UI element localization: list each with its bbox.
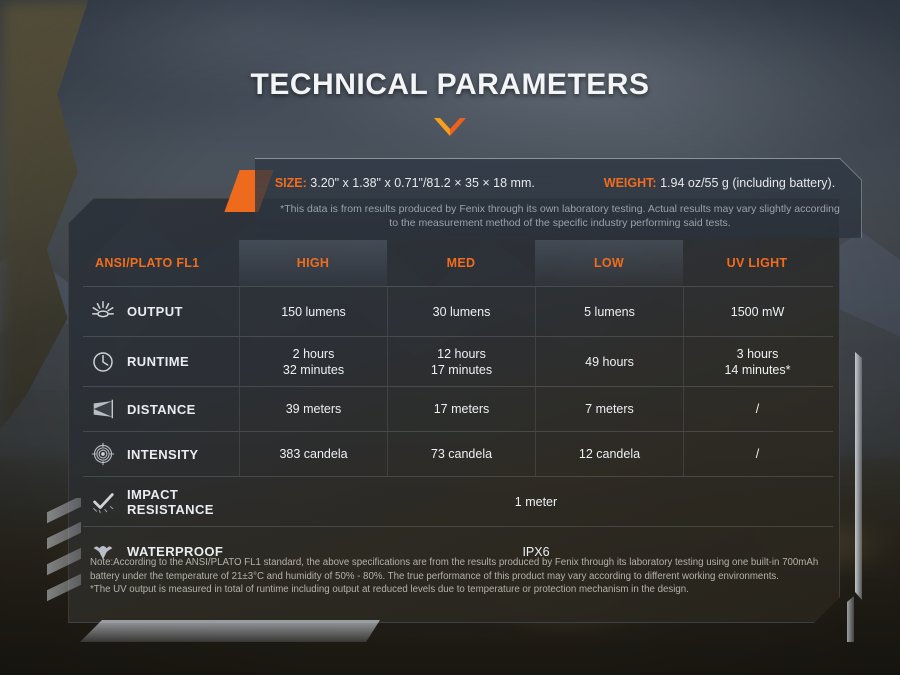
cell-intensity-low: 12 candela — [535, 432, 683, 476]
cell-output-med: 30 lumens — [387, 287, 535, 336]
size-label: SIZE: — [275, 176, 307, 190]
cell-intensity-med: 73 candela — [387, 432, 535, 476]
table-row: OUTPUT 150 lumens 30 lumens 5 lumens 150… — [83, 286, 833, 336]
right-edge-accent — [855, 352, 862, 600]
cell-distance-high: 39 meters — [239, 387, 387, 431]
cell-runtime-uv: 3 hours14 minutes* — [683, 337, 831, 386]
weight-label: WEIGHT: — [604, 176, 657, 190]
bottom-left-accent-bar — [80, 620, 380, 642]
header-cell-med: MED — [387, 240, 535, 286]
right-edge-accent-lower — [847, 596, 854, 642]
cell-runtime-med: 12 hours17 minutes — [387, 337, 535, 386]
footnote-block: Note:According to the ANSI/PLATO FL1 sta… — [90, 556, 820, 597]
table-row: RUNTIME 2 hours32 minutes 12 hours17 min… — [83, 336, 833, 386]
table-row: IMPACT RESISTANCE 1 meter — [83, 476, 833, 526]
table-row: INTENSITY 383 candela 73 candela 12 cand… — [83, 431, 833, 476]
header-cell-standard: ANSI/PLATO FL1 — [83, 240, 239, 286]
row-label-intensity: INTENSITY — [83, 432, 239, 476]
size-weight-line: SIZE: 3.20" x 1.38" x 0.71"/81.2 × 35 × … — [255, 176, 855, 190]
row-label-text: INTENSITY — [127, 447, 199, 462]
cell-runtime-high: 2 hours32 minutes — [239, 337, 387, 386]
cell-distance-uv: / — [683, 387, 831, 431]
spec-table: ANSI/PLATO FL1 HIGH MED LOW UV LIGHT — [83, 240, 833, 576]
row-label-text: RUNTIME — [127, 354, 189, 369]
page-title: TECHNICAL PARAMETERS — [0, 68, 900, 102]
left-stripe-decoration — [47, 498, 81, 610]
spec-disclaimer: *This data is from results produced by F… — [280, 202, 840, 230]
header-cell-uv: UV LIGHT — [683, 240, 831, 286]
impact-check-icon — [89, 488, 117, 516]
row-label-text: OUTPUT — [127, 304, 183, 319]
sun-burst-icon — [89, 298, 117, 326]
header-cell-high: HIGH — [239, 240, 387, 286]
chevron-down-icon — [433, 116, 467, 138]
target-intensity-icon — [89, 440, 117, 468]
footnote-line-1: Note:According to the ANSI/PLATO FL1 sta… — [90, 556, 820, 583]
row-label-output: OUTPUT — [83, 287, 239, 336]
beam-distance-icon — [89, 395, 117, 423]
cell-output-high: 150 lumens — [239, 287, 387, 336]
header-cell-low: LOW — [535, 240, 683, 286]
cell-distance-low: 7 meters — [535, 387, 683, 431]
row-label-impact-resistance: IMPACT RESISTANCE — [83, 477, 239, 526]
clock-icon — [89, 348, 117, 376]
row-label-text: DISTANCE — [127, 402, 196, 417]
technical-parameters-page: TECHNICAL PARAMETERS SIZE: 3.20" x 1.38"… — [0, 0, 900, 675]
footnote-line-2: *The UV output is measured in total of r… — [90, 583, 820, 597]
cell-intensity-uv: / — [683, 432, 831, 476]
table-header-row: ANSI/PLATO FL1 HIGH MED LOW UV LIGHT — [83, 240, 833, 286]
row-label-text: IMPACT RESISTANCE — [127, 487, 239, 517]
cell-output-low: 5 lumens — [535, 287, 683, 336]
size-value: 3.20" x 1.38" x 0.71"/81.2 × 35 × 18 mm. — [310, 176, 535, 190]
row-label-distance: DISTANCE — [83, 387, 239, 431]
cell-impact-resistance-value: 1 meter — [239, 477, 833, 526]
cell-output-uv: 1500 mW — [683, 287, 831, 336]
cell-distance-med: 17 meters — [387, 387, 535, 431]
cell-runtime-low: 49 hours — [535, 337, 683, 386]
table-row: DISTANCE 39 meters 17 meters 7 meters / — [83, 386, 833, 431]
weight-value: 1.94 oz/55 g (including battery). — [660, 176, 835, 190]
cell-intensity-high: 383 candela — [239, 432, 387, 476]
row-label-runtime: RUNTIME — [83, 337, 239, 386]
